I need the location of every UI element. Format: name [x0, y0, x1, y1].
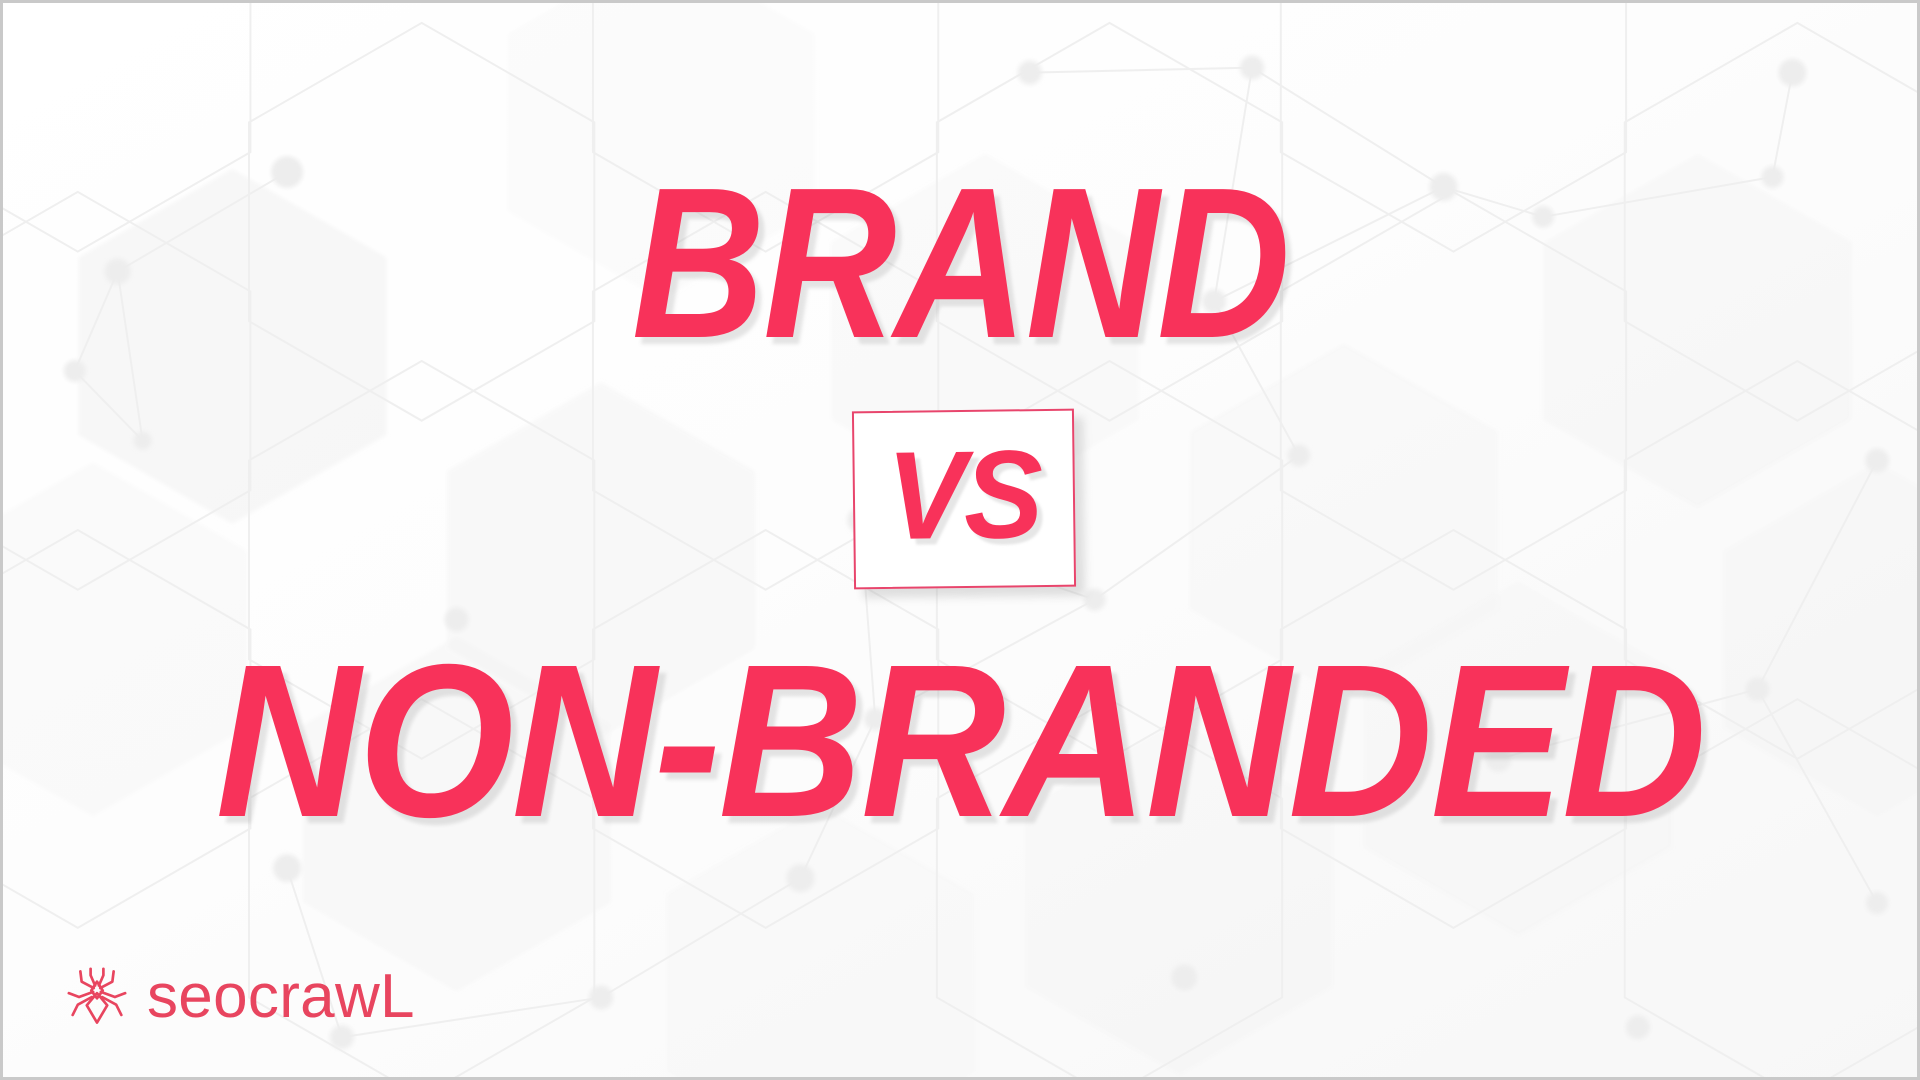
vs-label: VS	[886, 432, 1041, 559]
headline-brand: BRAND	[137, 155, 1783, 370]
spider-icon	[65, 965, 129, 1029]
seocrawl-logo[interactable]: seocrawL	[65, 965, 415, 1029]
vs-badge: VS	[852, 409, 1076, 590]
banner-canvas: BRAND NON-BRANDED VS	[0, 0, 1920, 1080]
headline-non-branded: NON-BRANDED	[80, 633, 1841, 851]
seocrawl-wordmark: seocrawL	[147, 966, 415, 1028]
